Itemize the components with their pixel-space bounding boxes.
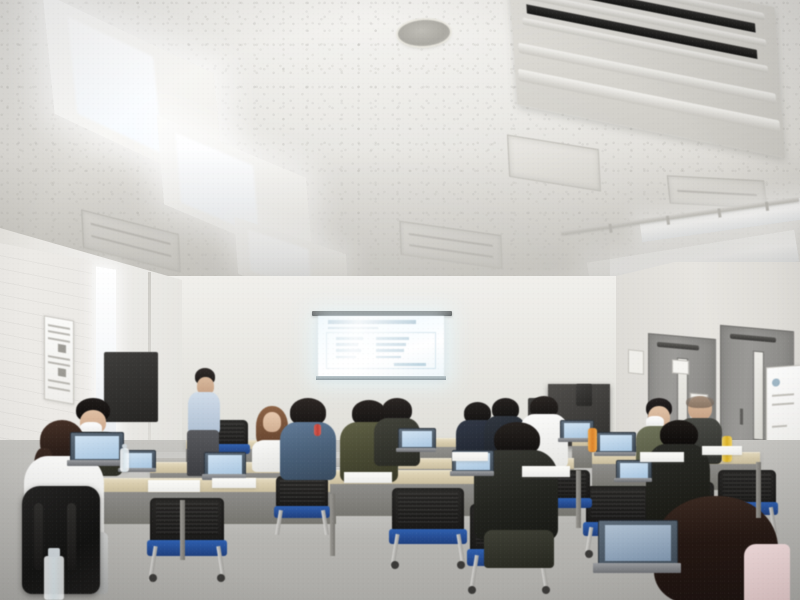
projection-screen — [318, 316, 444, 378]
laptop-right-3[interactable] — [616, 460, 650, 486]
chair-front-center[interactable] — [392, 488, 464, 558]
water-bottle-left[interactable] — [120, 448, 129, 472]
presenter-torso — [188, 392, 220, 434]
paper-handouts-3[interactable] — [344, 472, 392, 483]
microphone-stand — [576, 384, 592, 406]
person-attendee-4 — [280, 398, 336, 480]
desk-leg-3 — [576, 470, 581, 528]
wall-switch-plate[interactable] — [628, 349, 644, 375]
water-bottle-foreground[interactable] — [44, 556, 64, 600]
desk-leg-2 — [330, 494, 335, 556]
screen-bottom-edge — [316, 376, 446, 380]
chair-front-left[interactable] — [150, 498, 224, 570]
chair-mid-left[interactable] — [276, 476, 328, 528]
laptop-foreground[interactable] — [598, 520, 676, 582]
desk-leg-1 — [180, 500, 185, 560]
person-attendee-10 — [474, 422, 558, 562]
door-closer-icon — [657, 341, 699, 350]
drink-can-red[interactable] — [314, 424, 321, 436]
laptop-left-1[interactable] — [70, 432, 122, 472]
paper-handouts-2[interactable] — [212, 478, 256, 488]
paper-handouts-1[interactable] — [148, 480, 200, 492]
desk-leg-4 — [756, 462, 761, 518]
seminar-room-photo — [0, 0, 800, 600]
paper-handouts-4[interactable] — [522, 466, 570, 477]
door-handle[interactable] — [740, 409, 743, 425]
attendee-14-top — [744, 544, 790, 600]
laptop-right-2[interactable] — [596, 432, 634, 460]
paper-handouts-6[interactable] — [702, 446, 742, 455]
paper-handouts-5[interactable] — [640, 452, 684, 462]
laptop-center-1[interactable] — [398, 428, 434, 456]
paper-handouts-7[interactable] — [452, 452, 488, 461]
door-closer-icon — [730, 334, 776, 343]
wall-sign — [672, 359, 689, 374]
door-vision-panel — [753, 351, 764, 441]
wall-poster — [44, 315, 74, 404]
drink-bottle-orange[interactable] — [588, 428, 597, 452]
